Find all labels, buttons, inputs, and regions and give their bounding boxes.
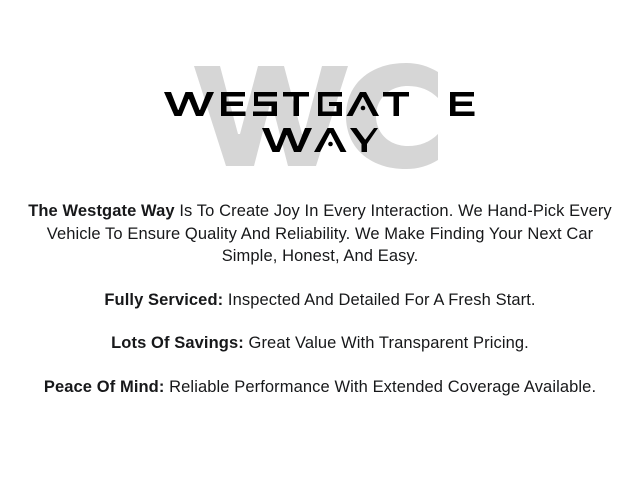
westgate-way-copy: The Westgate Way Is To Create Joy In Eve…: [14, 200, 626, 398]
paragraph-intro: The Westgate Way Is To Create Joy In Eve…: [14, 200, 626, 268]
paragraph-lots-of-savings-lead: Lots Of Savings:: [111, 334, 244, 352]
westgate-way-wordmark: [0, 60, 640, 154]
wordmark-way: [0, 126, 640, 154]
paragraph-fully-serviced: Fully Serviced: Inspected And Detailed F…: [14, 289, 626, 312]
paragraph-peace-of-mind-body: Reliable Performance With Extended Cover…: [164, 378, 596, 396]
paragraph-peace-of-mind-lead: Peace Of Mind:: [44, 378, 165, 396]
paragraph-lots-of-savings: Lots Of Savings: Great Value With Transp…: [14, 332, 626, 355]
paragraph-lots-of-savings-body: Great Value With Transparent Pricing.: [244, 334, 529, 352]
page-root: The Westgate Way Is To Create Joy In Eve…: [0, 0, 640, 480]
wordmark-westgate: [0, 90, 640, 118]
logo-block: [0, 60, 640, 175]
paragraph-intro-lead: The Westgate Way: [28, 202, 174, 220]
paragraph-fully-serviced-body: Inspected And Detailed For A Fresh Start…: [223, 291, 535, 309]
paragraph-peace-of-mind: Peace Of Mind: Reliable Performance With…: [14, 376, 626, 399]
paragraph-fully-serviced-lead: Fully Serviced:: [104, 291, 223, 309]
